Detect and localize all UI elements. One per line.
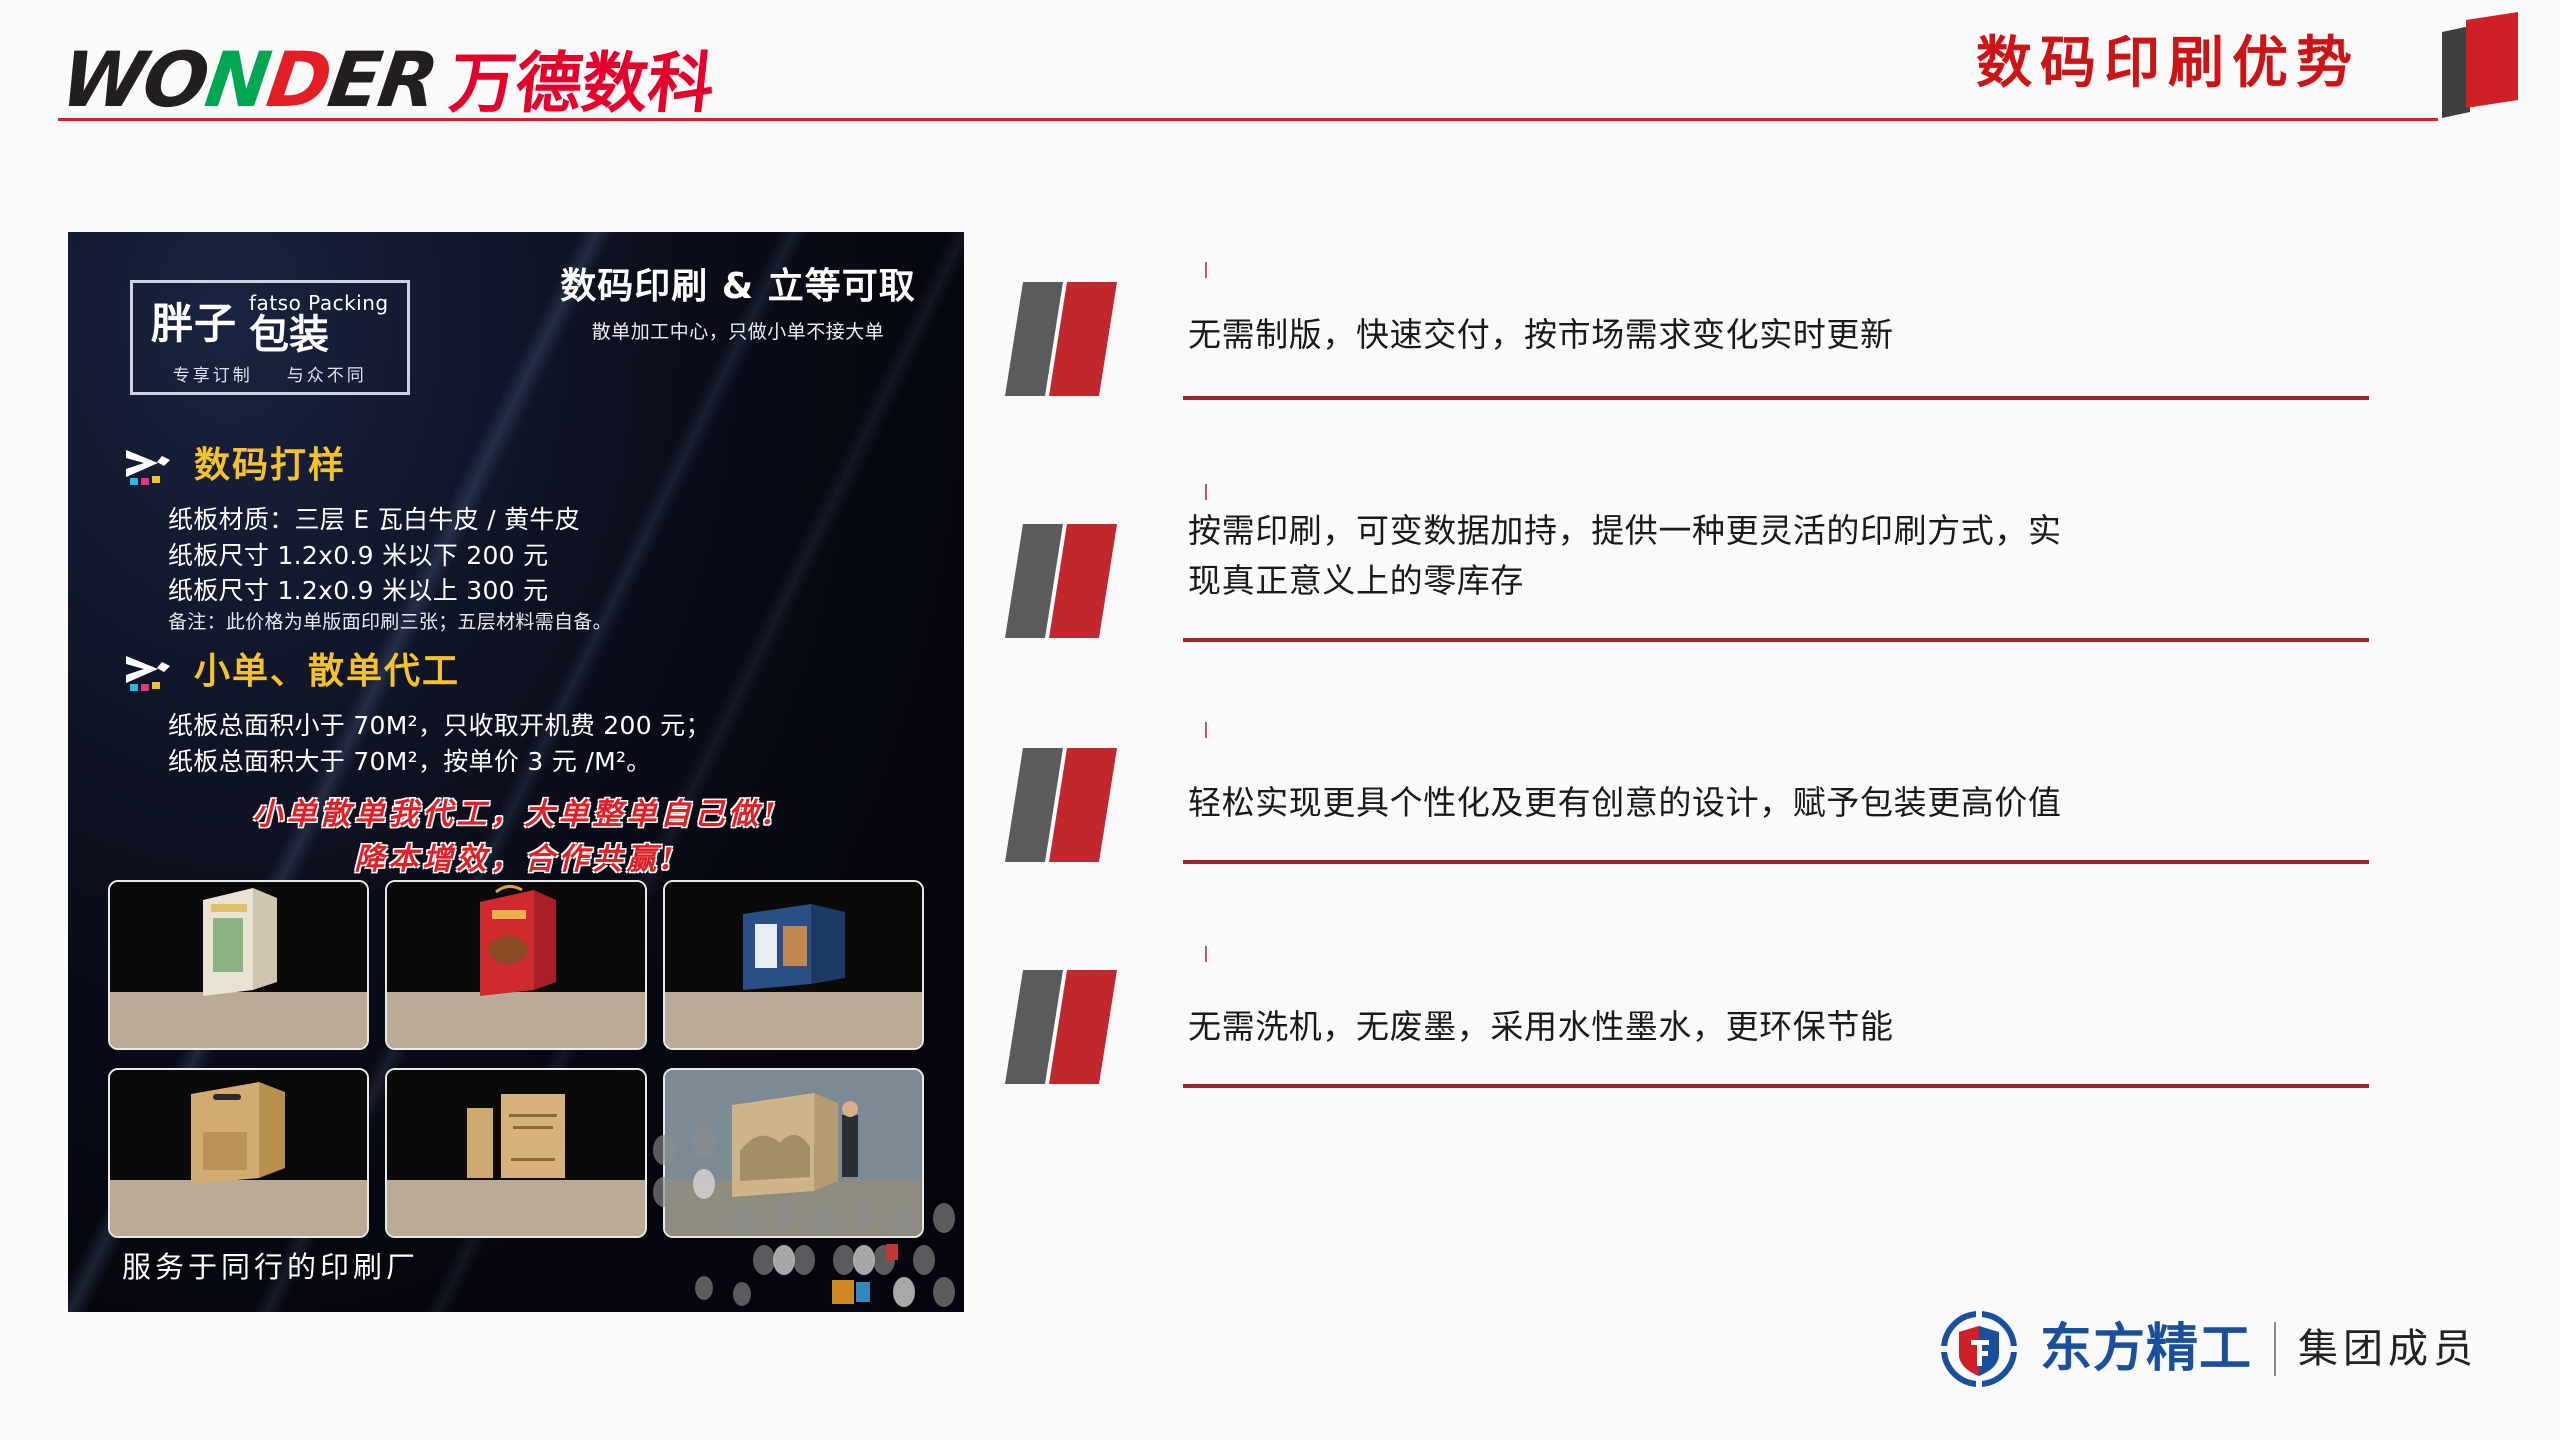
product-photo	[385, 880, 646, 1050]
poster-tagline-left: 专享订制	[173, 361, 253, 386]
corner-decoration-icon	[2422, 8, 2532, 120]
brand-logo: WONDER 万德数科	[62, 42, 714, 118]
poster-slogan-line: 小单散单我代工，大单整单自己做!	[68, 792, 964, 837]
page-title: 数码印刷优势	[1976, 36, 2360, 92]
arrow-marker-icon	[124, 650, 182, 694]
bullet-tick	[1205, 722, 1207, 738]
poster-footer-text: 服务于同行的印刷厂	[122, 1244, 419, 1286]
bullet-tick	[1205, 946, 1207, 962]
bullet-tick	[1205, 262, 1207, 278]
bullet-no-plate-making: 无需制版，快速交付，按市场需求变化实时更新	[1005, 280, 2445, 384]
footer-group-logo: 东方精工 集团成员	[1940, 1310, 2478, 1388]
brand-chinese-name: 万德数科	[446, 51, 717, 117]
bullet-underline	[1183, 1084, 2369, 1088]
bullet-tick	[1205, 484, 1207, 500]
poster-section-line: 纸板尺寸 1.2x0.9 米以下 200 元	[168, 538, 612, 574]
bullet-text: 轻松实现更具个性化及更有创意的设计，赋予包装更高价值	[1188, 778, 2368, 828]
bullet-line: 轻松实现更具个性化及更有创意的设计，赋予包装更高价值	[1188, 778, 2368, 828]
poster-tagline-right: 与众不同	[287, 361, 367, 386]
poster-brand-logo: 胖子 fatso Packing 包装 专享订制 与众不同	[130, 280, 410, 395]
poster-subheadline: 散单加工中心，只做小单不接大单	[538, 317, 938, 344]
poster-slogan-line: 降本增效，合作共赢!	[68, 837, 964, 882]
product-photo	[108, 1068, 369, 1238]
bullet-print-on-demand: 按需印刷，可变数据加持，提供一种更灵活的印刷方式，实 现真正意义上的零库存	[1005, 500, 2445, 650]
footer-company-name: 东方精工	[2040, 1323, 2252, 1375]
bullet-underline	[1183, 860, 2369, 864]
bullet-marker-icon	[1005, 280, 1173, 402]
product-photo	[663, 880, 924, 1050]
bullet-line: 现真正意义上的零库存	[1188, 556, 2368, 606]
wordmark-part-er: ER	[323, 35, 442, 124]
poster-section-line: 纸板尺寸 1.2x0.9 米以上 300 元	[168, 573, 612, 609]
wordmark-wonder: WONDER	[57, 42, 441, 118]
footer-member-label: 集团成员	[2298, 1329, 2478, 1369]
header-divider	[58, 118, 2438, 121]
bullet-line: 按需印刷，可变数据加持，提供一种更灵活的印刷方式，实	[1188, 506, 2368, 556]
bullet-text: 无需制版，快速交付，按市场需求变化实时更新	[1188, 310, 2368, 360]
poster-section-digital-proofing: 数码打样 纸板材质：三层 E 瓦白牛皮 / 黄牛皮 纸板尺寸 1.2x0.9 米…	[124, 444, 612, 635]
page-header: WONDER 万德数科 数码印刷优势	[0, 0, 2560, 120]
bullet-text: 按需印刷，可变数据加持，提供一种更灵活的印刷方式，实 现真正意义上的零库存	[1188, 506, 2368, 606]
bullet-marker-icon	[1005, 746, 1173, 868]
poster-section-line: 纸板总面积小于 70M²，只收取开机费 200 元；	[168, 708, 711, 744]
bullet-personalized-design: 轻松实现更具个性化及更有创意的设计，赋予包装更高价值	[1005, 746, 2445, 858]
bullet-line: 无需洗机，无废墨，采用水性墨水，更环保节能	[1188, 1002, 2368, 1052]
bullet-line: 无需制版，快速交付，按市场需求变化实时更新	[1188, 310, 2368, 360]
poster-headline-block: 数码印刷 & 立等可取 散单加工中心，只做小单不接大单	[538, 264, 938, 344]
product-photo	[108, 880, 369, 1050]
poster-brand-pack: 包装	[249, 315, 329, 355]
product-photo	[385, 1068, 646, 1238]
poster-section-small-order-oem: 小单、散单代工 纸板总面积小于 70M²，只收取开机费 200 元； 纸板总面积…	[124, 650, 711, 779]
poster-section-line: 纸板总面积大于 70M²，按单价 3 元 /M²。	[168, 744, 711, 780]
poster-section-title: 小单、散单代工	[194, 654, 460, 690]
poster-slogan: 小单散单我代工，大单整单自己做! 降本增效，合作共赢!	[68, 792, 964, 882]
footer-divider	[2274, 1322, 2276, 1376]
promo-poster-image: 胖子 fatso Packing 包装 专享订制 与众不同 数码印刷 & 立等可…	[68, 232, 964, 1312]
decorative-dots	[634, 1122, 964, 1312]
bullet-underline	[1183, 638, 2369, 642]
bullet-marker-icon	[1005, 522, 1173, 644]
dongfang-emblem-icon	[1940, 1310, 2018, 1388]
poster-brand-en: fatso Packing	[249, 293, 389, 313]
bullet-marker-icon	[1005, 968, 1173, 1090]
poster-section-line: 纸板材质：三层 E 瓦白牛皮 / 黄牛皮	[168, 502, 612, 538]
bullet-underline	[1183, 396, 2369, 400]
bullet-eco-friendly: 无需洗机，无废墨，采用水性墨水，更环保节能	[1005, 968, 2445, 1080]
poster-section-title: 数码打样	[194, 448, 346, 484]
poster-headline: 数码印刷 & 立等可取	[538, 264, 938, 309]
poster-section-note: 备注：此价格为单版面印刷三张；五层材料需自备。	[168, 609, 612, 636]
advantages-list: 无需制版，快速交付，按市场需求变化实时更新 按需印刷，可变数据加持，提供一种更灵…	[1005, 280, 2445, 1080]
wordmark-part-wo: WO	[56, 35, 213, 124]
arrow-marker-icon	[124, 444, 182, 488]
bullet-text: 无需洗机，无废墨，采用水性墨水，更环保节能	[1188, 1002, 2368, 1052]
poster-brand-cn: 胖子	[151, 303, 237, 345]
